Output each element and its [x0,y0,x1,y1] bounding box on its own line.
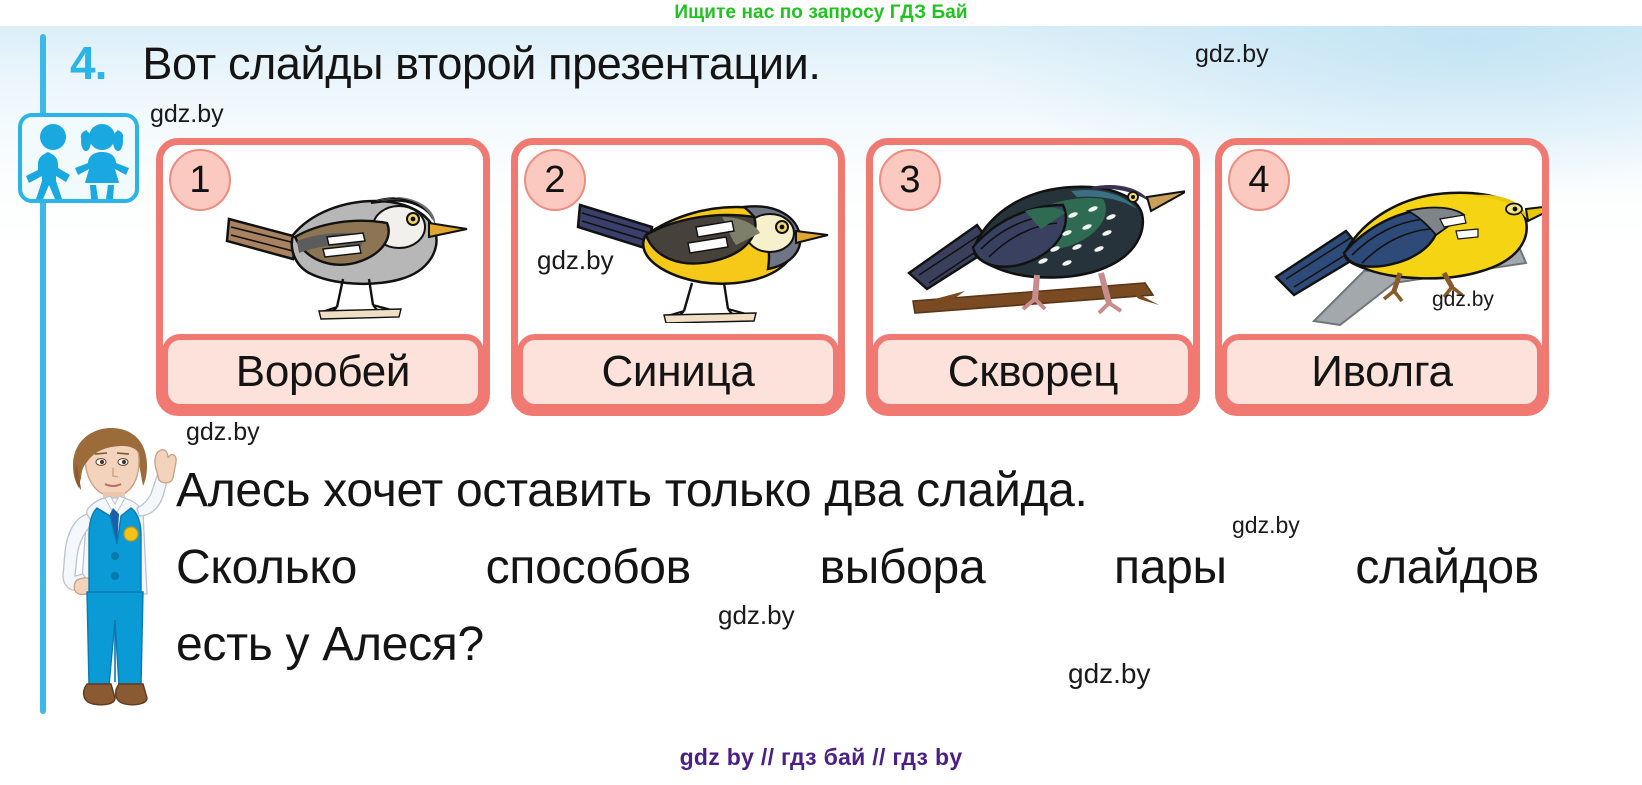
footer-strip: gdz by // гдз бай // гдз by [0,729,1642,785]
promo-banner-text: Ищите нас по запросу ГДЗ Бай [674,2,967,24]
question-word: способов [486,529,691,606]
question-line-1: Алесь хочет оставить только два слайда. [176,452,1556,529]
page-title: 4. Вот слайды второй презентации. [70,36,820,90]
question-line-3: есть у Алеся? [176,606,1556,683]
card-badge: 1 [169,149,231,211]
task-title: Вот слайды второй презентации. [142,38,820,90]
question-word: пары [1114,529,1227,606]
task-number: 4. [70,36,106,90]
schoolboy-raising-hand-illustration [47,424,179,712]
card-label[interactable]: Воробей [162,334,484,410]
slide-card-4[interactable]: 4 Иволга [1215,138,1549,416]
card-badge: 4 [1228,149,1290,211]
question-line-2: Сколько способов выбора пары слайдов [176,529,1539,606]
card-label[interactable]: Иволга [1221,334,1543,410]
promo-banner: Ищите нас по запросу ГДЗ Бай [0,0,1642,26]
slide-card-1[interactable]: 1 Воробей [156,138,490,416]
card-label[interactable]: Синица [517,334,839,410]
two-children-pair-work-icon [18,113,139,203]
card-label[interactable]: Скворец [872,334,1194,410]
question-text-block: Алесь хочет оставить только два слайда. … [176,452,1556,683]
question-word: Сколько [176,529,357,606]
footer-text: gdz by // гдз бай // гдз by [680,744,963,771]
question-word: выбора [820,529,986,606]
slide-card-2[interactable]: 2 Синица [511,138,845,416]
card-badge: 3 [879,149,941,211]
slide-card-3[interactable]: 3 Скворец [866,138,1200,416]
question-word: слайдов [1355,529,1539,606]
card-badge: 2 [524,149,586,211]
slide-cards-row: 1 Воробей [156,138,1536,416]
